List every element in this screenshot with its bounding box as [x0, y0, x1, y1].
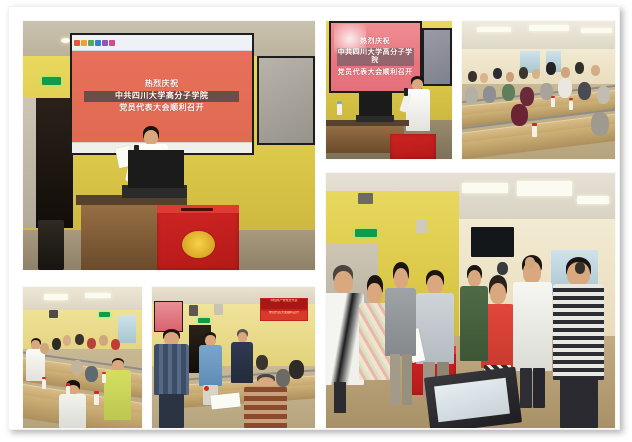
slide-line-3: 党员代表大会顺利召开 [84, 104, 239, 113]
wall-banner: 中国共产党党员代表 党员代表大会顺利召开 [260, 298, 309, 321]
banner-line-1: 中国共产党党员代表 [261, 299, 308, 308]
photo-delegates-desks[interactable] [22, 286, 143, 429]
slide-line-1: 热烈庆祝 [84, 80, 239, 89]
wall-tv [471, 227, 514, 258]
slide-toolbar [72, 35, 252, 50]
banner-line-2: 党员代表大会顺利召开 [261, 311, 308, 320]
attendee-person [384, 262, 419, 405]
photo-voting-queue[interactable] [325, 172, 616, 429]
photo-collage: Party member representative conference p… [0, 0, 632, 442]
attendee-person [59, 380, 88, 428]
photo-standing-group[interactable]: 中国共产党党员代表 党员代表大会顺利召开 [151, 286, 316, 429]
doorway [35, 98, 73, 227]
photo-audience-seated[interactable] [461, 20, 616, 160]
exit-sign-icon [355, 229, 377, 237]
ballot-box [390, 134, 435, 159]
speaker-icon [49, 310, 58, 318]
speaker-person [402, 76, 435, 137]
attendee-person [551, 257, 606, 428]
secondary-screen [257, 56, 315, 146]
collage-card: 热烈庆祝 中共四川大学高分子学院 党员代表大会顺利召开 [8, 6, 620, 430]
side-screen [154, 301, 183, 332]
ballot-box [157, 210, 239, 270]
exit-sign-icon [198, 318, 210, 323]
photo-speaker-closeup[interactable]: 热烈庆祝 中共四川大学高分子学院 党员代表大会顺利召开 [325, 20, 453, 160]
speaker-icon [189, 305, 198, 316]
photo-main-speaker[interactable]: 热烈庆祝 中共四川大学高分子学院 党员代表大会顺利召开 [22, 20, 316, 271]
attendee-person [459, 265, 491, 372]
slide-line-2: 中共四川大学高分子学院 [84, 91, 239, 102]
national-emblem-icon [182, 231, 215, 258]
speaker-icon [214, 304, 223, 315]
slide-line-3: 党员代表大会顺利召开 [337, 69, 414, 77]
attendee-person [104, 358, 133, 429]
window [118, 315, 136, 343]
exit-sign-icon [99, 312, 110, 317]
exit-sign-icon [42, 77, 61, 85]
microphone-icon [404, 88, 408, 96]
speaker-icon [416, 219, 427, 233]
attendee-person [154, 329, 190, 428]
door-panel [23, 98, 36, 227]
speaker-icon [358, 193, 373, 204]
